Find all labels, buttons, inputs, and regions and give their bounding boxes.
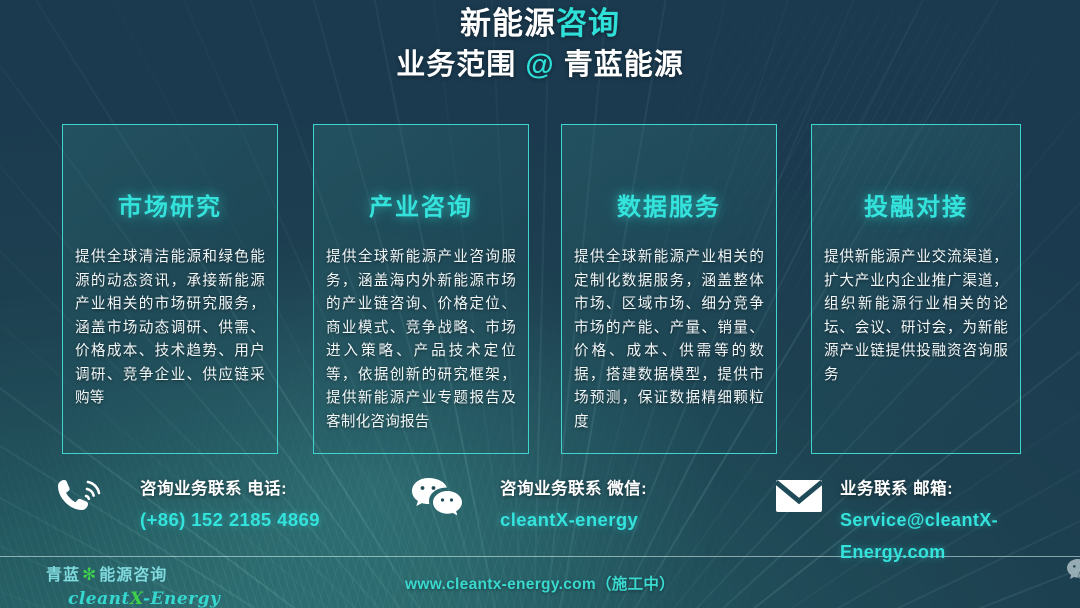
- contact-section: 咨询业务联系 电话: (+86) 152 2185 4869 咨询业务联系 微信…: [0, 466, 1080, 550]
- contact-phone-text: 咨询业务联系 电话: (+86) 152 2185 4869: [140, 474, 320, 536]
- contact-phone-value[interactable]: (+86) 152 2185 4869: [140, 504, 320, 536]
- service-card-industry-consulting[interactable]: 产业咨询 提供全球新能源产业咨询服务，涵盖海内外新能源市场的产业链咨询、价格定位…: [313, 124, 529, 454]
- contact-email-label: 业务联系 邮箱:: [840, 474, 1072, 504]
- contact-email-text: 业务联系 邮箱: Service@cleantX-Energy.com: [840, 474, 1072, 568]
- wechat-icon: [1066, 558, 1080, 586]
- page-header: 新能源咨询 业务范围 @ 青蓝能源: [0, 4, 1080, 86]
- wechat-icon: [408, 472, 466, 520]
- card-body: 提供全球新能源产业相关的定制化数据服务，涵盖整体市场、区域市场、细分竞争市场的产…: [574, 246, 764, 434]
- service-card-investment-matching[interactable]: 投融对接 提供新能源产业交流渠道，扩大产业内企业推广渠道，组织新能源行业相关的论…: [811, 124, 1021, 454]
- page-title-accent: 咨询: [556, 6, 620, 41]
- service-card-data-service[interactable]: 数据服务 提供全球新能源产业相关的定制化数据服务，涵盖整体市场、区域市场、细分竞…: [561, 124, 777, 454]
- contact-wechat-label: 咨询业务联系 微信:: [500, 474, 647, 504]
- service-card-market-research[interactable]: 市场研究 提供全球清洁能源和绿色能源的动态资讯，承接新能源产业相关的市场研究服务…: [62, 124, 278, 454]
- phone-ring-icon: [52, 472, 110, 520]
- at-symbol: @: [525, 49, 554, 81]
- contact-phone[interactable]: 咨询业务联系 电话: (+86) 152 2185 4869: [52, 466, 382, 544]
- website-url[interactable]: www.cleantx-energy.com（施工中）: [0, 572, 1080, 594]
- page-title: 新能源咨询: [0, 4, 1080, 44]
- contact-phone-label: 咨询业务联系 电话:: [140, 474, 320, 504]
- contact-wechat-value[interactable]: cleantX-energy: [500, 504, 647, 536]
- page-subtitle-right: 青蓝能源: [564, 49, 684, 81]
- envelope-icon: [772, 472, 830, 520]
- card-body: 提供全球清洁能源和绿色能源的动态资讯，承接新能源产业相关的市场研究服务，涵盖市场…: [75, 246, 265, 411]
- card-body: 提供新能源产业交流渠道，扩大产业内企业推广渠道，组织新能源行业相关的论坛、会议、…: [824, 246, 1008, 387]
- contact-email[interactable]: 业务联系 邮箱: Service@cleantX-Energy.com: [772, 466, 1072, 544]
- page-subtitle: 业务范围 @ 青蓝能源: [0, 44, 1080, 86]
- service-cards: 市场研究 提供全球清洁能源和绿色能源的动态资讯，承接新能源产业相关的市场研究服务…: [0, 124, 1080, 456]
- card-title: 市场研究: [75, 187, 265, 222]
- card-title: 数据服务: [574, 187, 764, 222]
- card-body: 提供全球新能源产业咨询服务，涵盖海内外新能源市场的产业链咨询、价格定位、商业模式…: [326, 246, 516, 434]
- card-title: 产业咨询: [326, 187, 516, 222]
- contact-wechat[interactable]: 咨询业务联系 微信: cleantX-energy: [408, 466, 708, 544]
- card-title: 投融对接: [824, 187, 1008, 222]
- page-title-main: 新能源: [460, 6, 556, 41]
- page-subtitle-left: 业务范围: [396, 49, 516, 81]
- contact-wechat-text: 咨询业务联系 微信: cleantX-energy: [500, 474, 647, 536]
